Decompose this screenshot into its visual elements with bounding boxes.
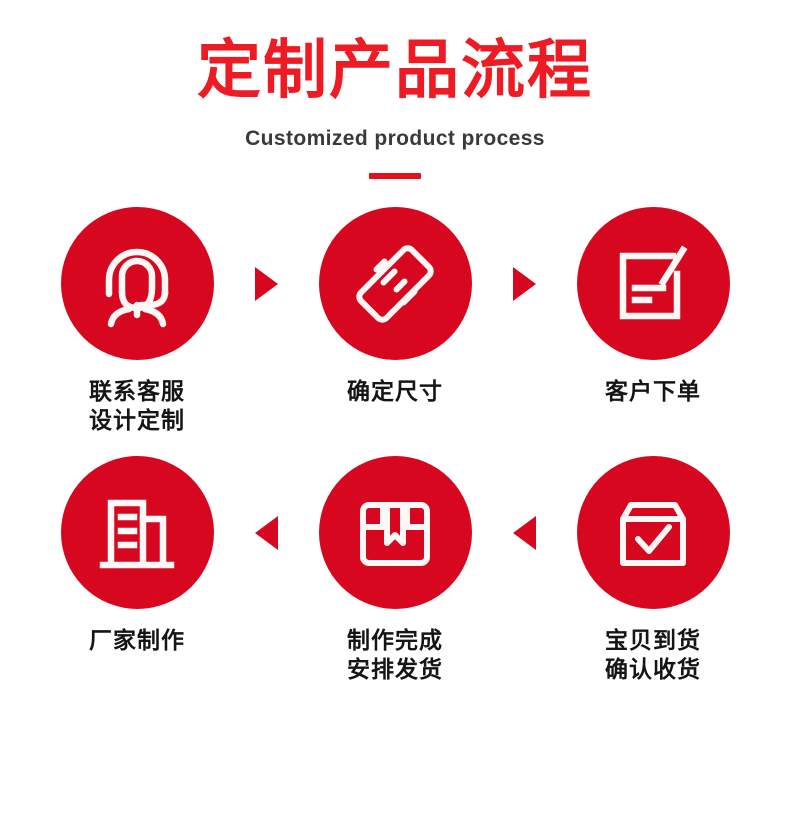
process-step-5[interactable]: 制作完成 安排发货 xyxy=(297,456,493,683)
ruler-icon xyxy=(347,236,443,332)
step-label-line2: 设计定制 xyxy=(89,406,185,435)
step-label: 客户下单 xyxy=(605,377,701,406)
package-box-icon xyxy=(347,485,443,581)
flow-arrow-4 xyxy=(493,456,555,609)
triangle-left-icon xyxy=(513,516,536,550)
process-step-2[interactable]: 确定尺寸 xyxy=(297,207,493,406)
headset-support-icon xyxy=(89,236,185,332)
triangle-left-icon xyxy=(255,516,278,550)
process-row-top: 联系客服 设计定制 xyxy=(0,207,790,434)
step-label-line1: 宝贝到货 xyxy=(605,627,701,653)
process-step-4[interactable]: 厂家制作 xyxy=(39,456,235,655)
header: 定制产品流程 Customized product process xyxy=(0,0,790,179)
step-icon-bubble xyxy=(61,207,214,360)
step-label-line1: 制作完成 xyxy=(347,627,443,653)
process-row-bottom: 厂家制作 xyxy=(0,456,790,683)
process-step-3[interactable]: 客户下单 xyxy=(555,207,751,406)
flow-arrow-2 xyxy=(493,207,555,360)
step-label-line2: 确认收货 xyxy=(605,655,701,684)
step-label-line2: 安排发货 xyxy=(347,655,443,684)
process-step-1[interactable]: 联系客服 设计定制 xyxy=(39,207,235,434)
process-flow: 联系客服 设计定制 xyxy=(0,207,790,683)
step-label: 确定尺寸 xyxy=(347,377,443,406)
triangle-right-icon xyxy=(513,267,536,301)
step-icon-bubble xyxy=(319,456,472,609)
title-divider xyxy=(369,173,421,179)
step-label-line1: 确定尺寸 xyxy=(347,378,443,404)
step-label: 宝贝到货 确认收货 xyxy=(605,626,701,683)
step-icon-bubble xyxy=(577,456,730,609)
customized-process-infographic: 定制产品流程 Customized product process xyxy=(0,0,790,818)
step-icon-bubble xyxy=(319,207,472,360)
document-pen-icon xyxy=(605,236,701,332)
page-subtitle: Customized product process xyxy=(0,127,790,151)
step-label-line1: 厂家制作 xyxy=(89,627,185,653)
triangle-right-icon xyxy=(255,267,278,301)
step-label: 制作完成 安排发货 xyxy=(347,626,443,683)
process-step-6[interactable]: 宝贝到货 确认收货 xyxy=(555,456,751,683)
flow-arrow-1 xyxy=(235,207,297,360)
box-check-icon xyxy=(605,485,701,581)
step-icon-bubble xyxy=(61,456,214,609)
step-icon-bubble xyxy=(577,207,730,360)
step-label: 联系客服 设计定制 xyxy=(89,377,185,434)
step-label-line1: 联系客服 xyxy=(89,378,185,404)
step-label-line1: 客户下单 xyxy=(605,378,701,404)
factory-building-icon xyxy=(89,485,185,581)
step-label: 厂家制作 xyxy=(89,626,185,655)
flow-arrow-3 xyxy=(235,456,297,609)
page-title: 定制产品流程 xyxy=(0,36,790,105)
